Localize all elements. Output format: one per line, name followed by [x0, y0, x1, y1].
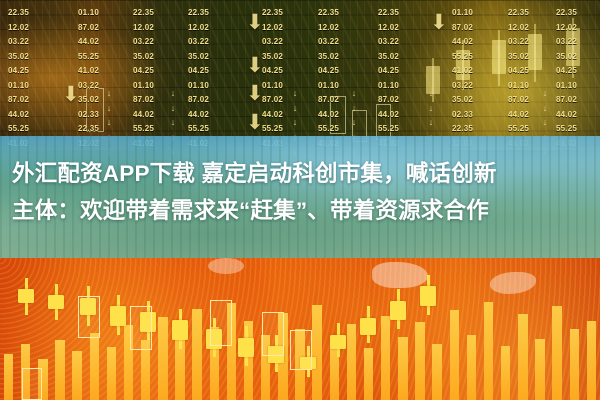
quote-value: 55.25 [556, 122, 600, 137]
headline: 外汇配资APP下载 嘉定启动科创市集，喊话创新 主体：欢迎带着需求来“赶集”、带… [0, 155, 600, 229]
quote-value: 12.02 [8, 21, 64, 36]
hollow-candle [290, 330, 312, 370]
volume-bar [192, 309, 201, 400]
quote-column: 22.3512.0203.2235.0204.2501.1087.0244.02… [133, 6, 189, 151]
candle-body [390, 301, 406, 321]
volume-bar [501, 346, 510, 400]
volume-bar [364, 348, 373, 400]
candle-body [330, 335, 346, 349]
volume-bar [484, 302, 493, 400]
quote-value: 01.10 [188, 79, 244, 94]
hollow-candle [210, 300, 232, 346]
arrow-down-icon: ↓ [290, 115, 300, 130]
arrow-down-icon: ⬇ [246, 112, 264, 133]
volume-bar [158, 317, 167, 400]
quote-value: 55.25 [318, 122, 374, 137]
volume-bar [570, 329, 579, 400]
volume-bar [432, 344, 441, 400]
quote-value: 04.25 [133, 64, 189, 79]
arrow-down-icon: ⬇ [246, 55, 264, 76]
quote-value: 44.02 [556, 108, 600, 123]
quote-value: 55.25 [133, 122, 189, 137]
quote-value: 22.35 [133, 6, 189, 21]
volume-bar [4, 354, 13, 400]
quote-value: 35.02 [378, 50, 434, 65]
quote-value: 03.22 [378, 35, 434, 50]
quote-value: 04.25 [188, 64, 244, 79]
volume-bar [55, 340, 64, 400]
arrow-down-icon: ↓ [349, 86, 359, 101]
quote-value: 01.10 [452, 6, 508, 21]
quote-value: 87.02 [556, 93, 600, 108]
quote-value: 12.02 [188, 21, 244, 36]
volume-bar [467, 335, 476, 400]
quote-value: 55.25 [78, 50, 134, 65]
quote-column: 01.1087.0244.0255.2541.0203.2235.0202.33… [452, 6, 508, 151]
quote-value: 04.25 [262, 64, 318, 79]
candle-body [18, 289, 34, 303]
quote-value: 22.35 [318, 6, 374, 21]
volume-bar [347, 324, 356, 400]
quote-value: 03.22 [556, 35, 600, 50]
quote-value: 44.02 [188, 108, 244, 123]
quote-value: 12.02 [133, 21, 189, 36]
candle-body [360, 318, 376, 335]
volume-bar [398, 337, 407, 400]
hollow-candle [22, 368, 42, 400]
quote-value: 44.02 [452, 35, 508, 50]
arrow-down-icon: ↓ [540, 101, 550, 116]
quote-value: 22.35 [378, 6, 434, 21]
quote-value: 35.02 [556, 50, 600, 65]
quote-value: 04.25 [378, 64, 434, 79]
quote-value: 22.35 [188, 6, 244, 21]
quote-value: 35.02 [133, 50, 189, 65]
volume-bar [312, 305, 321, 400]
quote-value: 44.02 [318, 108, 374, 123]
arrow-down-icon: ↓ [426, 86, 436, 101]
candle-body [420, 286, 436, 306]
quote-column: 22.3512.0203.2235.0204.2501.1087.0244.02… [318, 6, 374, 151]
arrow-down-icon: ↓ [168, 101, 178, 116]
quote-value: 04.25 [8, 64, 64, 79]
volume-bar [107, 347, 116, 400]
volume-bar [72, 351, 81, 400]
news-thumbnail: 22.3512.0203.2235.0204.2501.1087.0244.02… [0, 0, 600, 400]
quote-value: 87.02 [188, 93, 244, 108]
arrow-down-icon: ↓ [349, 101, 359, 116]
quote-value: 01.10 [133, 79, 189, 94]
quote-value: 44.02 [133, 108, 189, 123]
quote-value: 04.25 [556, 64, 600, 79]
quote-column: 22.3512.0203.2235.0204.2501.1087.0244.02… [556, 6, 600, 151]
hollow-candle [262, 312, 284, 356]
quote-value: 03.22 [262, 35, 318, 50]
quote-value: 01.10 [556, 79, 600, 94]
quote-value: 87.02 [318, 93, 374, 108]
arrow-down-icon: ⬇ [246, 12, 264, 33]
volume-bar [587, 321, 596, 400]
quote-value: 12.02 [378, 21, 434, 36]
quote-value: 12.02 [556, 21, 600, 36]
arrow-down-icon: ↓ [290, 101, 300, 116]
quote-value: 41.02 [78, 64, 134, 79]
quote-value: 01.10 [8, 79, 64, 94]
quote-value: 12.02 [262, 21, 318, 36]
volume-bar [415, 322, 424, 400]
quote-value: 55.25 [188, 122, 244, 137]
arrow-down-icon: ↓ [290, 86, 300, 101]
quote-value: 03.22 [8, 35, 64, 50]
headline-line-1: 外汇配资APP下载 嘉定启动科创市集，喊话创新 [12, 155, 588, 192]
quote-value: 04.25 [318, 64, 374, 79]
volume-bar [535, 339, 544, 400]
candle-body [238, 338, 254, 358]
quote-value: 03.22 [188, 35, 244, 50]
quote-value: 22.35 [262, 6, 318, 21]
quote-value: 87.02 [133, 93, 189, 108]
quote-value: 35.02 [318, 50, 374, 65]
quote-value: 35.02 [452, 93, 508, 108]
quote-value: 41.02 [452, 64, 508, 79]
arrow-down-icon: ↓ [104, 101, 114, 116]
quote-value: 87.02 [452, 21, 508, 36]
quote-value: 55.25 [452, 50, 508, 65]
quote-value: 35.02 [8, 50, 64, 65]
arrow-down-icon: ↓ [540, 115, 550, 130]
arrow-down-icon: ↓ [540, 86, 550, 101]
map-silhouette [372, 262, 428, 288]
quote-value: 55.25 [8, 122, 64, 137]
hollow-candle [78, 296, 100, 338]
quote-value: 35.02 [262, 50, 318, 65]
quote-value: 03.22 [452, 79, 508, 94]
quote-value: 12.02 [318, 21, 374, 36]
headline-line-2: 主体：欢迎带着需求来“赶集”、带着资源求合作 [12, 192, 588, 229]
quote-value: 03.22 [318, 35, 374, 50]
arrow-down-icon: ⬇ [246, 83, 264, 104]
candle-body [172, 320, 188, 340]
quote-value: 02.33 [452, 108, 508, 123]
quote-value: 35.02 [188, 50, 244, 65]
quote-column: 22.3512.0203.2235.0204.2501.1087.0244.02… [188, 6, 244, 151]
volume-bar [450, 310, 459, 400]
arrow-down-icon: ↓ [168, 115, 178, 130]
quote-value: 03.22 [133, 35, 189, 50]
volume-bar [381, 316, 390, 400]
arrow-down-icon: ↓ [426, 101, 436, 116]
quote-value: 22.35 [452, 122, 508, 137]
volume-bar [90, 333, 99, 400]
arrow-down-icon: ⬇ [430, 12, 448, 33]
arrow-down-icon: ↓ [426, 115, 436, 130]
quote-value: 87.02 [8, 93, 64, 108]
arrow-down-icon: ↓ [104, 86, 114, 101]
quote-value: 01.10 [318, 79, 374, 94]
candle-body [110, 306, 126, 326]
quote-value: 22.35 [8, 6, 64, 21]
volume-bar [518, 314, 527, 400]
arrow-down-icon: ↓ [104, 115, 114, 130]
map-silhouette [208, 258, 244, 274]
quote-value: 44.02 [78, 35, 134, 50]
quote-value: 44.02 [8, 108, 64, 123]
quote-value: 22.35 [556, 6, 600, 21]
arrow-down-icon: ↓ [349, 115, 359, 130]
quote-column: 22.3512.0203.2235.0204.2501.1087.0244.02… [8, 6, 64, 151]
volume-bar [552, 306, 561, 400]
quote-value: 87.02 [78, 21, 134, 36]
arrow-down-icon: ↓ [168, 86, 178, 101]
arrow-down-icon: ⬇ [62, 84, 80, 105]
hollow-candle [130, 306, 152, 350]
quote-value: 01.10 [78, 6, 134, 21]
candle-body [48, 295, 64, 309]
